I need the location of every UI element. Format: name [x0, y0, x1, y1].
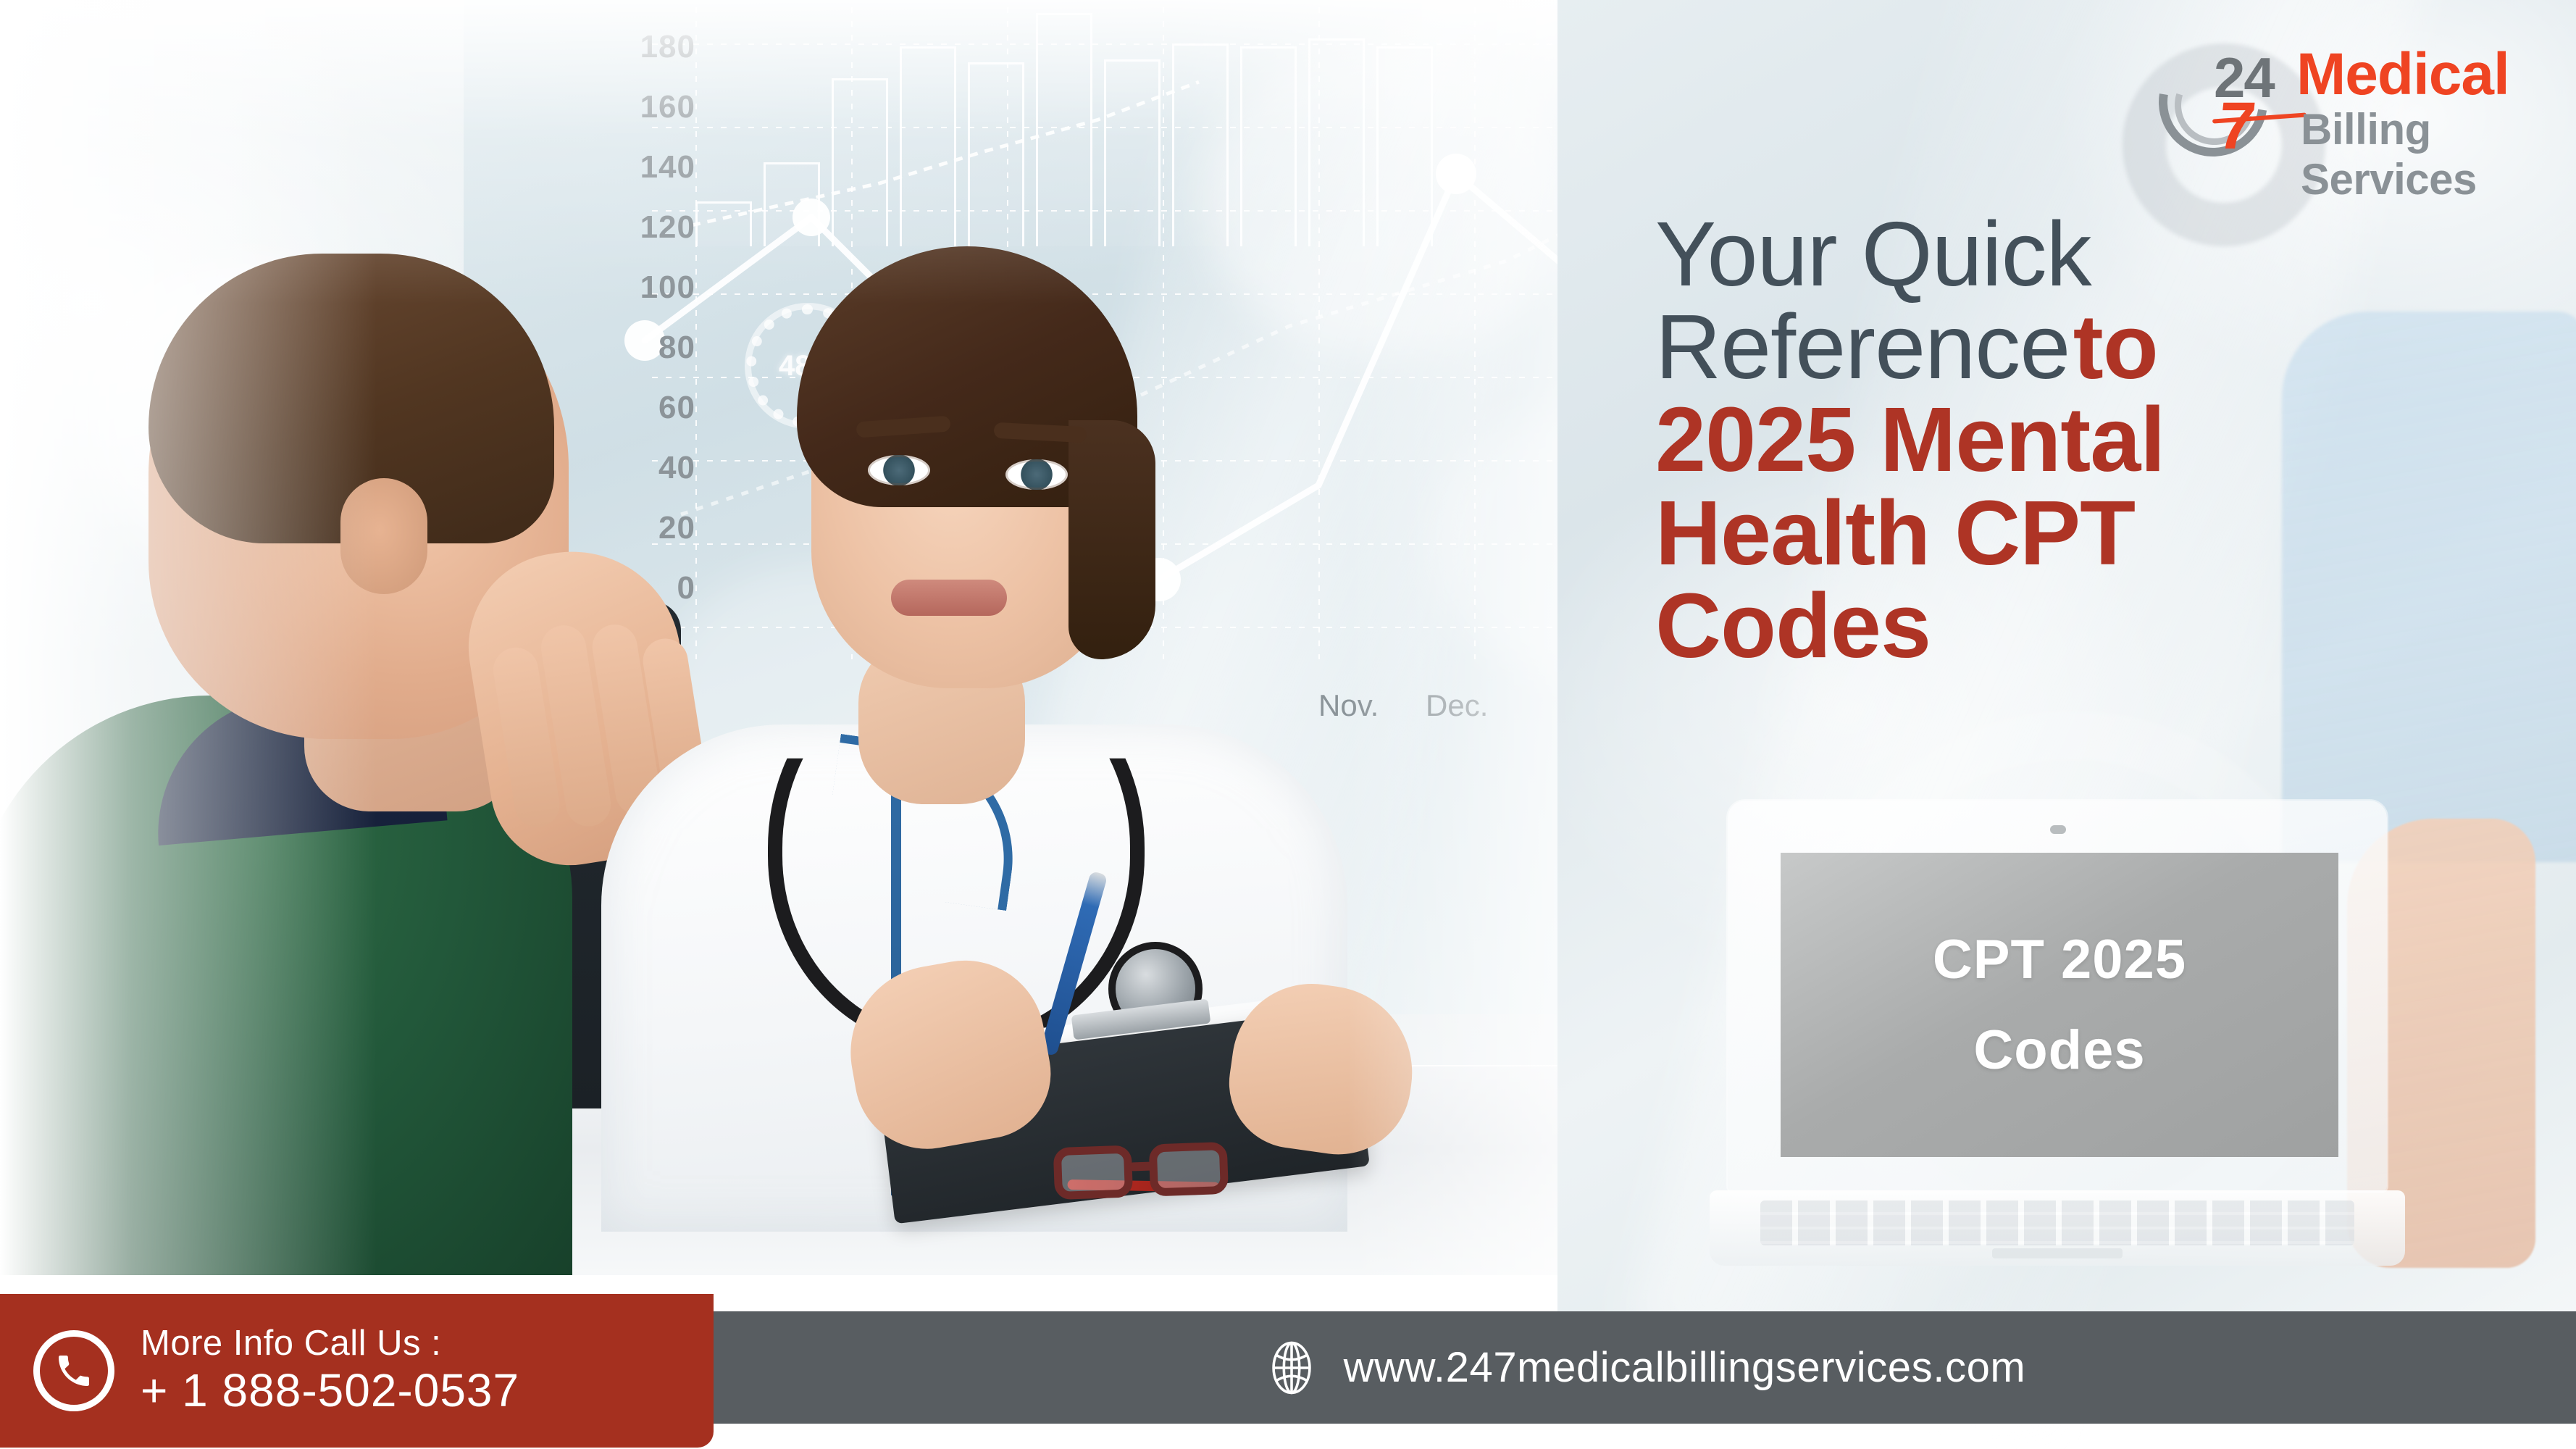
y-tick-label: 20: [658, 510, 695, 546]
headline-text: Your Quick: [1655, 203, 2091, 305]
company-logo[interactable]: 24 7 Medical Billing Services: [2159, 36, 2535, 167]
y-tick-label: 120: [640, 209, 695, 246]
y-tick-label: 160: [640, 89, 695, 125]
x-tick-label-nov: Nov.: [1318, 688, 1379, 723]
photo-collage: 180 160 140 120 100 80 60 40 20 0 Nov. D…: [0, 0, 1644, 1275]
y-tick-label: 0: [677, 570, 695, 606]
logo-7-text: 7: [2214, 88, 2259, 164]
y-tick-label: 80: [658, 330, 695, 366]
promo-banner: 180 160 140 120 100 80 60 40 20 0 Nov. D…: [0, 0, 2576, 1449]
screen-line-1: CPT 2025: [1933, 928, 2186, 991]
screen-line-2: Codes: [1973, 1019, 2145, 1082]
y-tick-label: 40: [658, 450, 695, 486]
x-tick-label-dec: Dec.: [1426, 688, 1488, 723]
logo-medical-text: Medical: [2296, 41, 2509, 109]
phone-number[interactable]: + 1 888-502-0537: [141, 1364, 519, 1419]
webcam-icon: [2050, 825, 2066, 834]
laptop-graphic: CPT 2025 Codes: [1710, 801, 2405, 1293]
y-tick-label: 100: [640, 270, 695, 306]
doctor-hair-side: [1069, 420, 1155, 659]
phone-icon: [33, 1330, 114, 1411]
patient-ear: [340, 478, 427, 594]
headline-line-1: Your Quick: [1655, 210, 2467, 298]
headline-text: Reference: [1655, 296, 2070, 398]
y-tick-label: 140: [640, 149, 695, 185]
logo-billing-text: Billing Services: [2301, 104, 2535, 204]
y-tick-label: 180: [640, 29, 695, 65]
headline-accent: to: [2073, 296, 2158, 398]
laptop-trackpad: [1992, 1248, 2123, 1258]
laptop-screen: CPT 2025 Codes: [1781, 853, 2338, 1157]
doctor-eye: [868, 455, 930, 485]
headline-accent: Health CPT: [1655, 482, 2135, 584]
laptop-keyboard: [1760, 1200, 2354, 1245]
doctor-eye: [1005, 459, 1068, 490]
website-bar[interactable]: www.247medicalbillingservices.com: [714, 1311, 2576, 1424]
doctor-lips: [891, 580, 1007, 616]
website-url[interactable]: www.247medicalbillingservices.com: [1344, 1343, 2026, 1392]
eyeglasses: [1053, 1142, 1229, 1206]
headline-accent: Codes: [1655, 575, 1931, 677]
globe-icon: [1264, 1340, 1319, 1395]
background-scrubs: [2282, 312, 2576, 862]
call-us-label: More Info Call Us :: [141, 1323, 519, 1364]
y-tick-label: 60: [658, 390, 695, 426]
call-us-bar[interactable]: More Info Call Us : + 1 888-502-0537: [0, 1294, 714, 1448]
headline-accent: 2025 Mental: [1655, 388, 2165, 490]
